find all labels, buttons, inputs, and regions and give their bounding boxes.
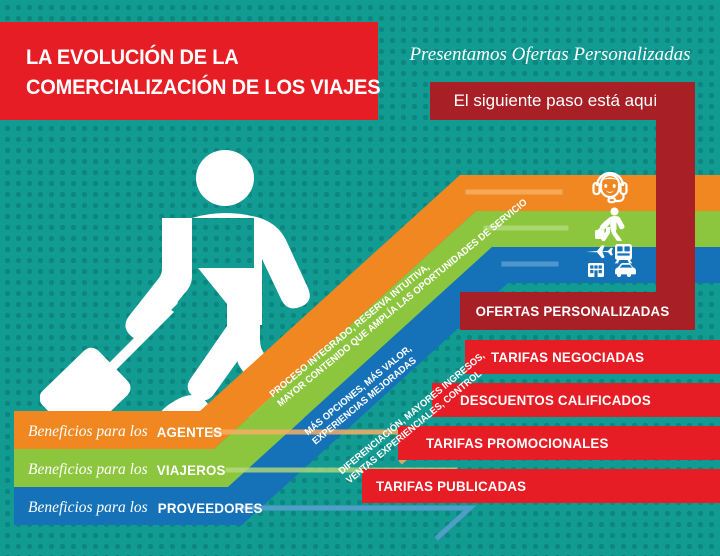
step-label-ofertas-personalizadas: OFERTAS PERSONALIZADAS [466,292,680,330]
step-bar-descuentos-calificados: DESCUENTOS CALIFICADOS [432,383,720,417]
benefit-audience: VIAJEROS [156,462,225,478]
frame-right-bar [656,82,695,292]
kicker-text: Presentamos Ofertas Personalizadas [390,44,710,66]
benefit-prefix: Beneficios para los [28,423,148,441]
traveler-with-luggage-icon [594,207,628,241]
benefit-prefix: Beneficios para los [28,461,148,479]
step-bar-tarifas-negociadas: TARIFAS NEGOCIADAS [465,340,720,374]
page-title: LA EVOLUCIÓN DE LA COMERCIALIZACIÓN DE L… [26,42,344,102]
benefit-audience: PROVEEDORES [157,500,262,516]
benefit-label-proveedores: Beneficios para los PROVEEDORES [28,491,265,525]
page-title-line2: COMERCIALIZACIÓN DE LOS VIAJES [26,72,344,102]
step-label: TARIFAS PROMOCIONALES [426,435,609,451]
benefit-audience: AGENTES [156,424,222,440]
supplier-modes-icon [584,243,640,277]
benefit-label-agentes: Beneficios para los AGENTES [28,415,224,449]
headset-agent-icon [590,168,630,204]
benefit-prefix: Beneficios para los [28,499,148,517]
step-label: TARIFAS PUBLICADAS [376,478,526,494]
step-label: DESCUENTOS CALIFICADOS [460,392,651,408]
subhead-text: El siguiente paso está aquí. [430,82,686,120]
page-title-line1: LA EVOLUCIÓN DE LA [26,42,344,72]
step-label: TARIFAS NEGOCIADAS [491,349,644,365]
infographic-canvas: El siguiente paso está aquí. OFERTAS PER… [0,0,720,556]
step-bar-tarifas-publicadas: TARIFAS PUBLICADAS [362,469,720,503]
benefit-label-viajeros: Beneficios para los VIAJEROS [28,453,227,487]
step-bar-tarifas-promocionales: TARIFAS PROMOCIONALES [398,426,720,460]
headline-block: LA EVOLUCIÓN DE LA COMERCIALIZACIÓN DE L… [0,22,378,120]
